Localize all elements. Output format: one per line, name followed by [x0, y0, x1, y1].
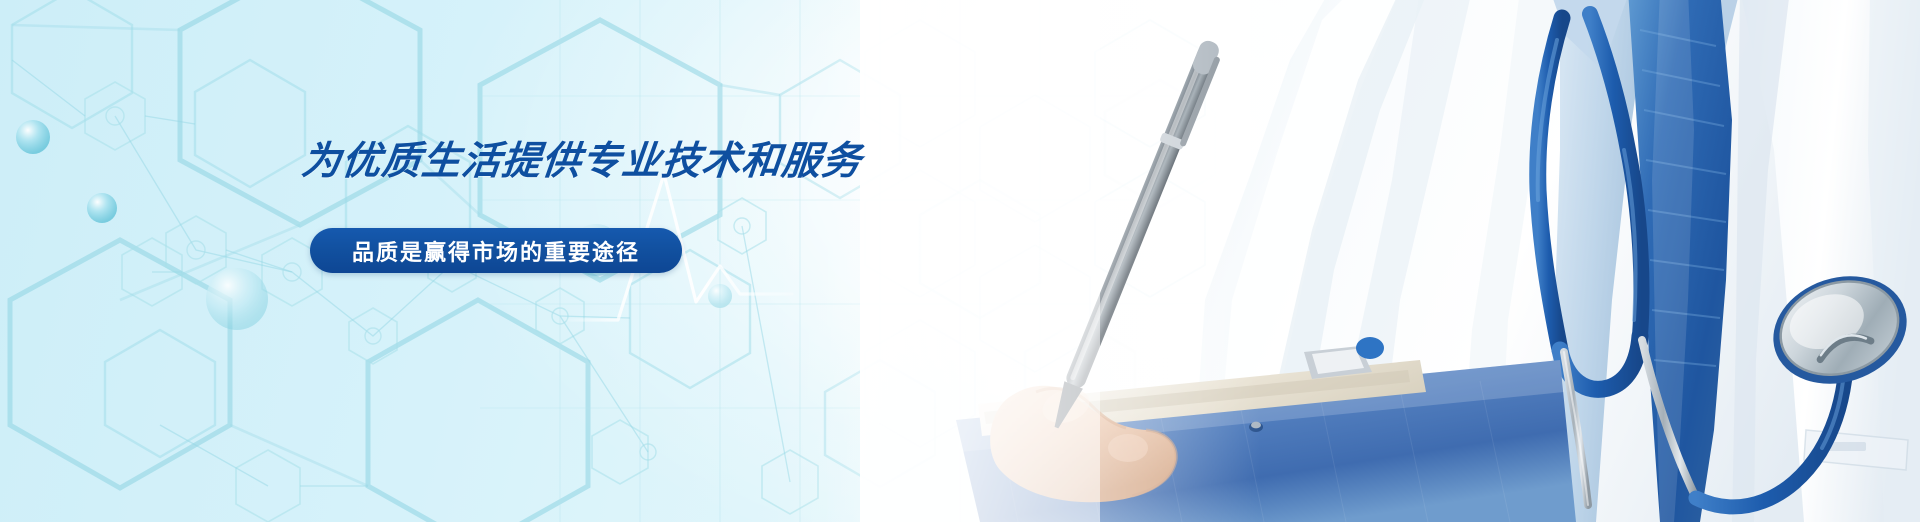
- cta-button-label: 品质是赢得市场的重要途径: [352, 235, 640, 267]
- banner-headline: 为优质生活提供专业技术和服务: [299, 130, 865, 186]
- banner-content: 为优质生活提供专业技术和服务 Quality wins Future 品质是赢得…: [0, 0, 900, 522]
- clipboard-tab: [1356, 337, 1384, 359]
- hero-banner: 为优质生活提供专业技术和服务 Quality wins Future 品质是赢得…: [0, 0, 1920, 522]
- doctor-photo: [860, 0, 1920, 522]
- cta-button[interactable]: 品质是赢得市场的重要途径: [310, 228, 682, 273]
